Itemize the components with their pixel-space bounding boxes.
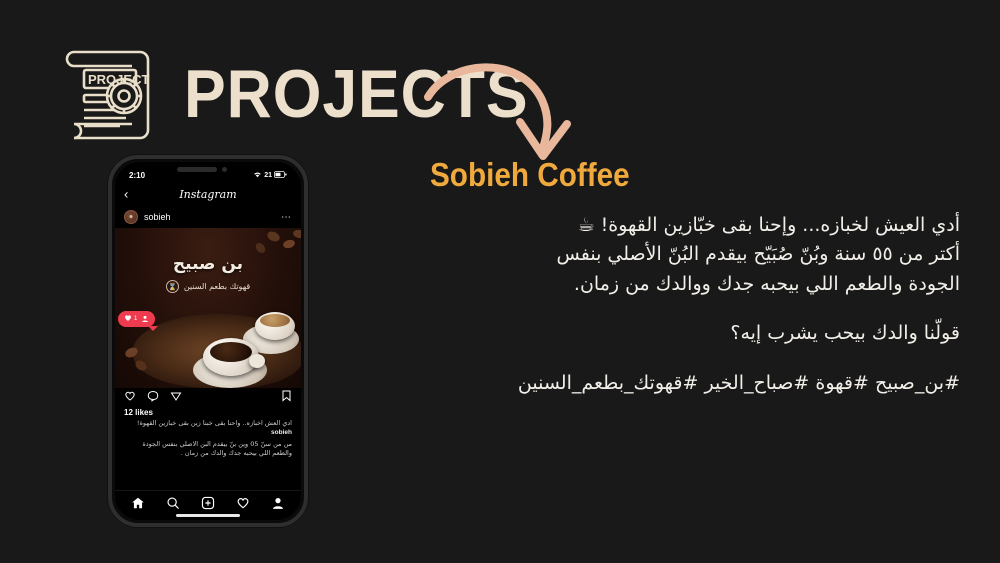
body-line-3: الجودة والطعم اللي بيحبه جدك ووالدك من ز… xyxy=(430,270,960,299)
battery-percent: 21 xyxy=(264,172,272,179)
comment-icon[interactable] xyxy=(147,389,159,407)
post-image[interactable]: بن صبيح قهوتك بطعم السنين ⌛ xyxy=(115,228,301,388)
instagram-top-bar: ‹ Instagram xyxy=(115,182,301,206)
post-caption: ادي العش اخبازه.. واحنا بقى خبنا زين بقى… xyxy=(115,417,301,438)
profile-icon[interactable] xyxy=(271,496,285,515)
status-time: 2:10 xyxy=(129,171,145,180)
heart-icon[interactable] xyxy=(124,389,136,407)
post-username[interactable]: sobieh xyxy=(144,212,171,222)
phone-notch xyxy=(177,166,239,173)
hourglass-logo-icon: ⌛ xyxy=(166,280,179,293)
badge-person-icon xyxy=(141,315,149,323)
badge-count: 1 xyxy=(134,316,137,322)
wifi-icon xyxy=(253,171,262,180)
post-header: ☻ sobieh ⋯ xyxy=(115,206,301,228)
phone-mockup: 2:10 21 ‹ xyxy=(108,155,308,527)
home-icon[interactable] xyxy=(131,496,145,515)
curved-arrow xyxy=(420,52,610,167)
post-brand-name: بن صبيح xyxy=(115,254,301,274)
instagram-logo: Instagram xyxy=(179,188,236,201)
content-hashtags: #بن_صبيح #قهوة #صباح_الخير #قهوتك_بطعم_ا… xyxy=(430,369,960,398)
content-column: Sobieh Coffee أدي العيش لخبازه... وإحنا … xyxy=(430,158,960,397)
avatar[interactable]: ☻ xyxy=(124,210,138,224)
post-tagline-row: قهوتك بطعم السنين ⌛ xyxy=(115,280,301,293)
body-line-1: أدي العيش لخبازه... وإحنا بقى خبّازين ال… xyxy=(430,211,960,240)
add-post-icon[interactable] xyxy=(201,496,215,515)
activity-heart-icon[interactable] xyxy=(236,496,250,515)
content-question: قولّنا والدك بيحب يشرب إيه؟ xyxy=(430,319,960,348)
body-line-2: أكتر من ٥٥ سنة وبُنّ صُبَيّح بيقدم البُن… xyxy=(430,240,960,269)
caption-line-1: ادي العش اخبازه.. واحنا بقى خبنا زين بقى… xyxy=(137,419,292,427)
phone-screen: 2:10 21 ‹ xyxy=(115,162,301,520)
post-tagline-text: قهوتك بطعم السنين xyxy=(184,282,250,291)
project-scroll-gear-icon: PROJECT xyxy=(58,38,162,150)
home-indicator xyxy=(176,514,240,517)
content-body: أدي العيش لخبازه... وإحنا بقى خبّازين ال… xyxy=(430,211,960,299)
back-chevron-icon[interactable]: ‹ xyxy=(124,188,128,201)
bookmark-icon[interactable] xyxy=(281,389,292,407)
content-heading: Sobieh Coffee xyxy=(430,158,907,191)
scroll-icon-label: PROJECT xyxy=(88,72,149,87)
post-caption-line-2: من من سنّ 05 وين بنّ بيقدم البن الاصلي ب… xyxy=(115,438,301,459)
bottom-navigation xyxy=(115,490,301,520)
badge-heart-icon xyxy=(124,314,132,324)
more-options-icon[interactable]: ⋯ xyxy=(281,212,292,223)
share-icon[interactable] xyxy=(170,389,182,407)
search-icon[interactable] xyxy=(166,496,180,515)
caption-username[interactable]: sobieh xyxy=(271,429,292,436)
likes-count: 12 likes xyxy=(115,408,301,417)
post-actions xyxy=(115,388,301,408)
battery-icon xyxy=(274,171,287,180)
notification-badge[interactable]: 1 xyxy=(118,311,155,327)
